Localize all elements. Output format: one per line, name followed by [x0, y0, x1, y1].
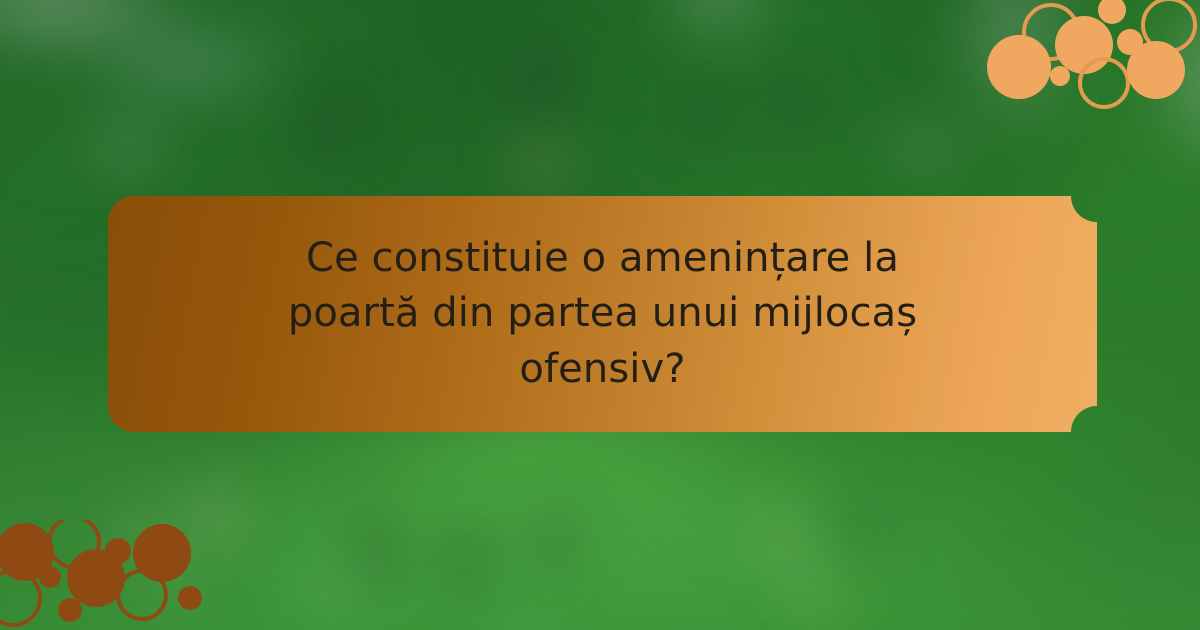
social-card-canvas: Ce constituie o amenințare la poartă din…: [0, 0, 1200, 630]
decorative-circle: [1055, 16, 1113, 74]
decorative-circle: [118, 571, 166, 619]
headline-banner: Ce constituie o amenințare la poartă din…: [108, 196, 1097, 432]
decorative-circle: [1098, 0, 1126, 24]
decorative-circle: [1127, 41, 1185, 99]
decorative-circle: [987, 35, 1051, 99]
top-right-dot-cluster: [970, 0, 1200, 120]
decorative-circle: [39, 566, 61, 588]
decorative-circle: [1080, 59, 1128, 107]
decorative-circle: [133, 524, 191, 582]
decorative-circle: [58, 598, 82, 622]
headline-text: Ce constituie o amenințare la poartă din…: [253, 231, 953, 397]
decorative-circle: [1050, 66, 1070, 86]
bottom-left-dot-cluster: [0, 520, 220, 630]
decorative-circle: [178, 586, 202, 610]
